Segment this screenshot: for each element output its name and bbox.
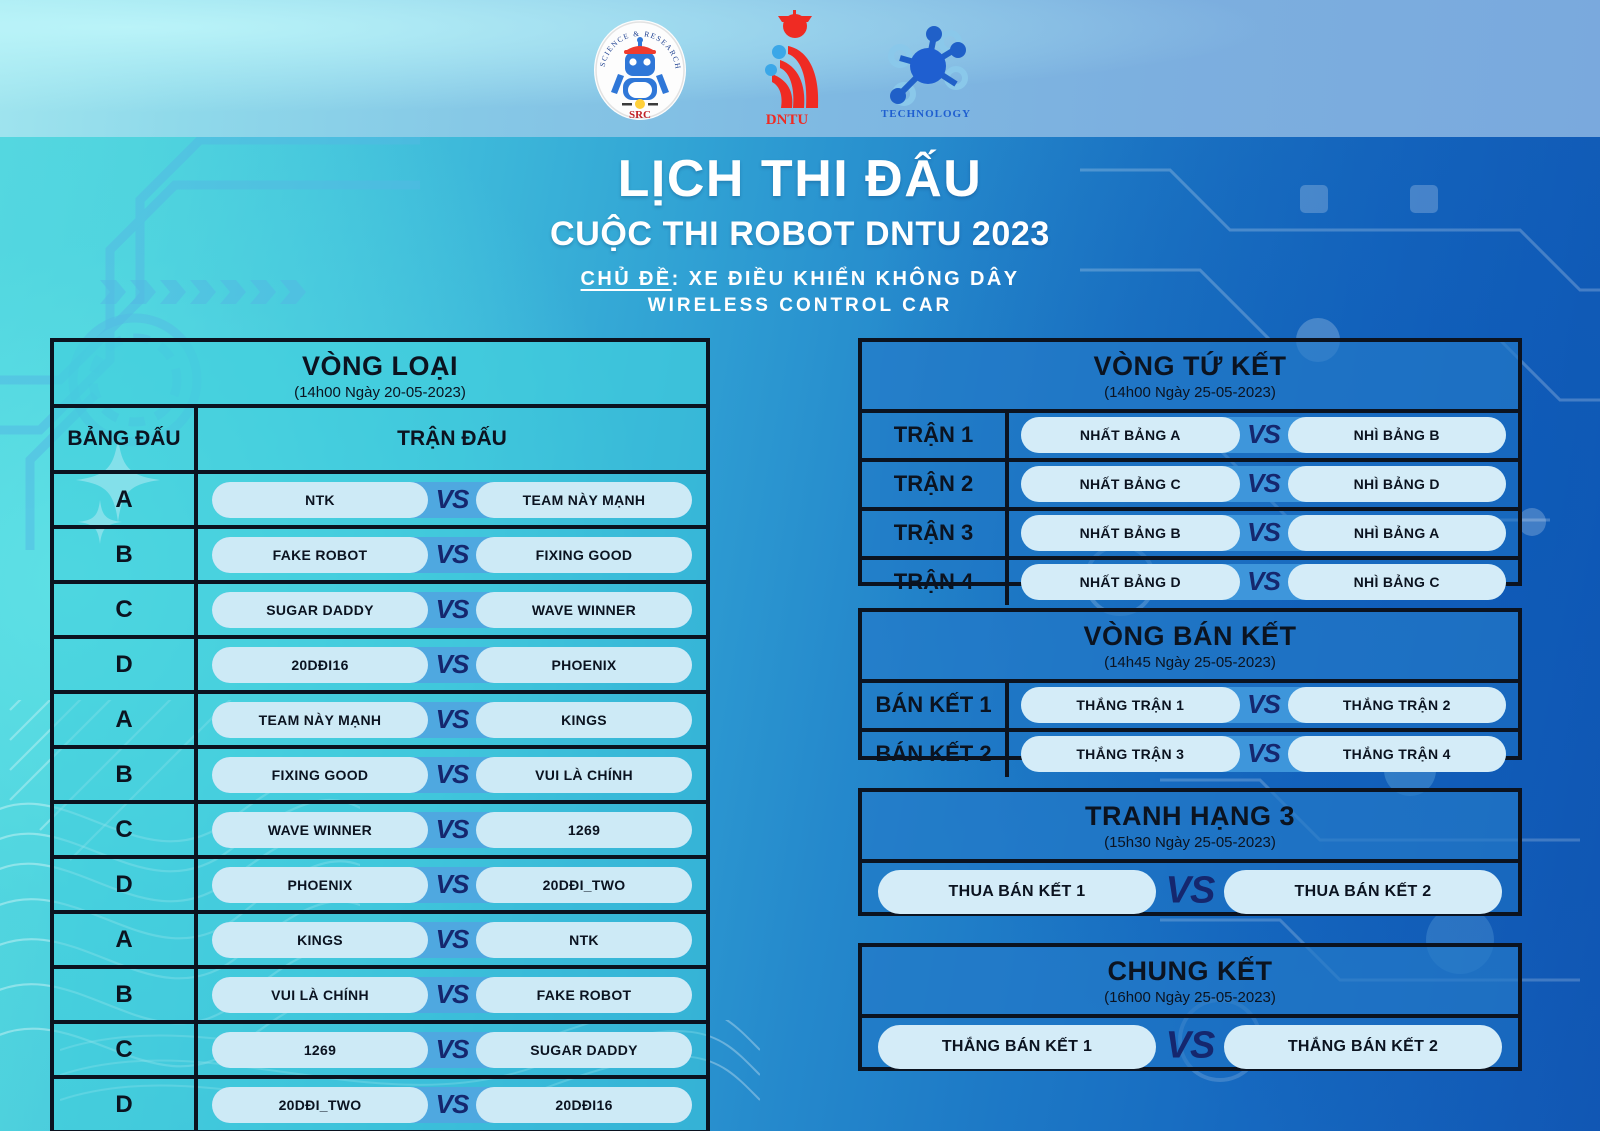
vs-label: VS <box>1247 566 1280 597</box>
row-label: TRẬN 1 <box>862 413 1009 458</box>
vs-label: VS <box>1247 738 1280 769</box>
home-team: FIXING GOOD <box>212 757 428 793</box>
match-widget: 20DĐI_TWO VS 20DĐI16 <box>212 1087 692 1123</box>
match-widget: PHOENIX VS 20DĐI_TWO <box>212 867 692 903</box>
table-row[interactable]: A KINGS VS NTK <box>54 910 706 965</box>
qualifying-column-headers: BẢNG ĐẤU TRẬN ĐẤU <box>54 404 706 470</box>
final-title-block: CHUNG KẾT (16h00 Ngày 25-05-2023) <box>862 947 1518 1014</box>
qualifying-time: (14h00 Ngày 20-05-2023) <box>54 384 706 401</box>
final-panel: CHUNG KẾT (16h00 Ngày 25-05-2023) THẮNG … <box>858 943 1522 1071</box>
theme-label: CHỦ ĐỀ <box>581 268 672 290</box>
match-widget: NHẤT BẢNG D VS NHÌ BẢNG C <box>1021 564 1506 600</box>
home-team: NHẤT BẢNG A <box>1021 417 1240 453</box>
row-match: TEAM NÀY MẠNH VS KINGS <box>198 694 706 745</box>
home-team: THẮNG BÁN KẾT 1 <box>878 1025 1156 1069</box>
home-team: TEAM NÀY MẠNH <box>212 702 428 738</box>
row-match: PHOENIX VS 20DĐI_TWO <box>198 859 706 910</box>
table-row[interactable]: TRẬN 2 NHẤT BẢNG C VS NHÌ BẢNG D <box>862 458 1518 507</box>
match-widget: FAKE ROBOT VS FIXING GOOD <box>212 537 692 573</box>
row-group: D <box>54 859 198 910</box>
match-widget: THẮNG TRẬN 3 VS THẮNG TRẬN 4 <box>1021 736 1506 772</box>
match-widget: 20DĐI16 VS PHOENIX <box>212 647 692 683</box>
match-widget: WAVE WINNER VS 1269 <box>212 812 692 848</box>
row-group: A <box>54 694 198 745</box>
away-team: VUI LÀ CHÍNH <box>476 757 692 793</box>
match-widget: THUA BÁN KẾT 1 VS THUA BÁN KẾT 2 <box>878 870 1502 914</box>
semifinal-time: (14h45 Ngày 25-05-2023) <box>862 654 1518 671</box>
row-match: NHẤT BẢNG B VS NHÌ BẢNG A <box>1009 511 1518 556</box>
row-match: VUI LÀ CHÍNH VS FAKE ROBOT <box>198 969 706 1020</box>
row-label: BÁN KẾT 2 <box>862 732 1009 777</box>
vs-label: VS <box>436 593 469 624</box>
table-row[interactable]: TRẬN 1 NHẤT BẢNG A VS NHÌ BẢNG B <box>862 409 1518 458</box>
quarterfinal-title: VÒNG TỨ KẾT <box>862 352 1518 382</box>
table-row[interactable]: B FIXING GOOD VS VUI LÀ CHÍNH <box>54 745 706 800</box>
home-team: NHẤT BẢNG B <box>1021 515 1240 551</box>
home-team: SUGAR DADDY <box>212 592 428 628</box>
away-team: THẮNG TRẬN 4 <box>1288 736 1507 772</box>
vs-label: VS <box>1166 869 1215 912</box>
vs-label: VS <box>1247 419 1280 450</box>
semifinal-panel: VÒNG BÁN KẾT (14h45 Ngày 25-05-2023) BÁN… <box>858 608 1522 760</box>
vs-label: VS <box>436 978 469 1009</box>
row-match: WAVE WINNER VS 1269 <box>198 804 706 855</box>
final-time: (16h00 Ngày 25-05-2023) <box>862 989 1518 1006</box>
header-bar-shine <box>0 0 1600 137</box>
theme-line: CHỦ ĐỀ: XE ĐIỀU KHIỂN KHÔNG DÂY <box>0 268 1600 291</box>
away-team: FAKE ROBOT <box>476 977 692 1013</box>
home-team: WAVE WINNER <box>212 812 428 848</box>
row-match: 20DĐI16 VS PHOENIX <box>198 639 706 690</box>
final-title: CHUNG KẾT <box>862 957 1518 987</box>
third-place-match-row[interactable]: THUA BÁN KẾT 1 VS THUA BÁN KẾT 2 <box>862 859 1518 921</box>
away-team: NHÌ BẢNG D <box>1288 466 1507 502</box>
home-team: PHOENIX <box>212 867 428 903</box>
qualifying-panel: VÒNG LOẠI (14h00 Ngày 20-05-2023) BẢNG Đ… <box>50 338 710 1131</box>
away-team: WAVE WINNER <box>476 592 692 628</box>
home-team: KINGS <box>212 922 428 958</box>
away-team: THẮNG TRẬN 2 <box>1288 687 1507 723</box>
vs-label: VS <box>436 813 469 844</box>
home-team: 20DĐI16 <box>212 647 428 683</box>
vs-label: VS <box>436 758 469 789</box>
row-match: 20DĐI_TWO VS 20DĐI16 <box>198 1079 706 1130</box>
page-title: LỊCH THI ĐẤU <box>0 149 1600 209</box>
match-widget: NHẤT BẢNG B VS NHÌ BẢNG A <box>1021 515 1506 551</box>
home-team: THUA BÁN KẾT 1 <box>878 870 1156 914</box>
theme-value: : XE ĐIỀU KHIỂN KHÔNG DÂY <box>672 268 1020 290</box>
vs-label: VS <box>436 868 469 899</box>
semifinal-title: VÒNG BÁN KẾT <box>862 622 1518 652</box>
row-match: KINGS VS NTK <box>198 914 706 965</box>
row-match: THẮNG TRẬN 1 VS THẮNG TRẬN 2 <box>1009 683 1518 728</box>
table-row[interactable]: C 1269 VS SUGAR DADDY <box>54 1020 706 1075</box>
vs-label: VS <box>436 648 469 679</box>
table-row[interactable]: BÁN KẾT 1 THẮNG TRẬN 1 VS THẮNG TRẬN 2 <box>862 679 1518 728</box>
row-match: FAKE ROBOT VS FIXING GOOD <box>198 529 706 580</box>
away-team: KINGS <box>476 702 692 738</box>
poster-header: LỊCH THI ĐẤU CUỘC THI ROBOT DNTU 2023 CH… <box>0 137 1600 317</box>
away-team: NHÌ BẢNG A <box>1288 515 1507 551</box>
final-match-row[interactable]: THẮNG BÁN KẾT 1 VS THẮNG BÁN KẾT 2 <box>862 1014 1518 1076</box>
home-team: NHẤT BẢNG C <box>1021 466 1240 502</box>
table-row[interactable]: D 20DĐI16 VS PHOENIX <box>54 635 706 690</box>
match-widget: NHẤT BẢNG C VS NHÌ BẢNG D <box>1021 466 1506 502</box>
away-team: THUA BÁN KẾT 2 <box>1224 870 1502 914</box>
match-widget: SUGAR DADDY VS WAVE WINNER <box>212 592 692 628</box>
match-widget: 1269 VS SUGAR DADDY <box>212 1032 692 1068</box>
home-team: NHẤT BẢNG D <box>1021 564 1240 600</box>
row-match: THẮNG TRẬN 3 VS THẮNG TRẬN 4 <box>1009 732 1518 777</box>
match-widget: THẮNG BÁN KẾT 1 VS THẮNG BÁN KẾT 2 <box>878 1025 1502 1069</box>
page-subtitle: CUỘC THI ROBOT DNTU 2023 <box>0 215 1600 254</box>
table-row[interactable]: B FAKE ROBOT VS FIXING GOOD <box>54 525 706 580</box>
table-row[interactable]: TRẬN 4 NHẤT BẢNG D VS NHÌ BẢNG C <box>862 556 1518 605</box>
qualifying-title: VÒNG LOẠI <box>54 352 706 382</box>
match-widget: THẮNG TRẬN 1 VS THẮNG TRẬN 2 <box>1021 687 1506 723</box>
quarterfinal-time: (14h00 Ngày 25-05-2023) <box>862 384 1518 401</box>
row-match: NHẤT BẢNG A VS NHÌ BẢNG B <box>1009 413 1518 458</box>
row-group: B <box>54 529 198 580</box>
away-team: SUGAR DADDY <box>476 1032 692 1068</box>
vs-label: VS <box>436 923 469 954</box>
row-label: TRẬN 2 <box>862 462 1009 507</box>
table-row[interactable]: D PHOENIX VS 20DĐI_TWO <box>54 855 706 910</box>
vs-label: VS <box>436 1033 469 1064</box>
away-team: PHOENIX <box>476 647 692 683</box>
table-row[interactable]: A NTK VS TEAM NÀY MẠNH <box>54 470 706 525</box>
away-team: THẮNG BÁN KẾT 2 <box>1224 1025 1502 1069</box>
quarterfinal-panel: VÒNG TỨ KẾT (14h00 Ngày 25-05-2023) TRẬN… <box>858 338 1522 586</box>
row-group: D <box>54 639 198 690</box>
vs-label: VS <box>436 703 469 734</box>
row-group: C <box>54 584 198 635</box>
match-widget: NTK VS TEAM NÀY MẠNH <box>212 482 692 518</box>
vs-label: VS <box>436 483 469 514</box>
semifinal-title-block: VÒNG BÁN KẾT (14h45 Ngày 25-05-2023) <box>862 612 1518 679</box>
column-header-match: TRẬN ĐẤU <box>198 408 706 470</box>
away-team: TEAM NÀY MẠNH <box>476 482 692 518</box>
third-place-title-block: TRANH HẠNG 3 (15h30 Ngày 25-05-2023) <box>862 792 1518 859</box>
away-team: NHÌ BẢNG B <box>1288 417 1507 453</box>
row-group: D <box>54 1079 198 1130</box>
vs-label: VS <box>1166 1024 1215 1067</box>
row-label: TRẬN 3 <box>862 511 1009 556</box>
vs-label: VS <box>436 538 469 569</box>
column-header-group: BẢNG ĐẤU <box>54 408 198 470</box>
table-row[interactable]: TRẬN 3 NHẤT BẢNG B VS NHÌ BẢNG A <box>862 507 1518 556</box>
row-group: A <box>54 914 198 965</box>
home-team: FAKE ROBOT <box>212 537 428 573</box>
table-row[interactable]: C WAVE WINNER VS 1269 <box>54 800 706 855</box>
away-team: 20DĐI16 <box>476 1087 692 1123</box>
row-match: SUGAR DADDY VS WAVE WINNER <box>198 584 706 635</box>
table-row[interactable]: BÁN KẾT 2 THẮNG TRẬN 3 VS THẮNG TRẬN 4 <box>862 728 1518 777</box>
away-team: FIXING GOOD <box>476 537 692 573</box>
third-place-time: (15h30 Ngày 25-05-2023) <box>862 834 1518 851</box>
away-team: 1269 <box>476 812 692 848</box>
match-widget: KINGS VS NTK <box>212 922 692 958</box>
row-match: FIXING GOOD VS VUI LÀ CHÍNH <box>198 749 706 800</box>
home-team: 20DĐI_TWO <box>212 1087 428 1123</box>
table-row[interactable]: A TEAM NÀY MẠNH VS KINGS <box>54 690 706 745</box>
third-place-panel: TRANH HẠNG 3 (15h30 Ngày 25-05-2023) THU… <box>858 788 1522 916</box>
away-team: NHÌ BẢNG C <box>1288 564 1507 600</box>
row-match: NHẤT BẢNG D VS NHÌ BẢNG C <box>1009 560 1518 605</box>
vs-label: VS <box>1247 468 1280 499</box>
vs-label: VS <box>436 1088 469 1119</box>
home-team: THẮNG TRẬN 3 <box>1021 736 1240 772</box>
theme-english: WIRELESS CONTROL CAR <box>0 295 1600 317</box>
vs-label: VS <box>1247 517 1280 548</box>
home-team: NTK <box>212 482 428 518</box>
row-group: C <box>54 804 198 855</box>
home-team: VUI LÀ CHÍNH <box>212 977 428 1013</box>
match-widget: TEAM NÀY MẠNH VS KINGS <box>212 702 692 738</box>
table-row[interactable]: B VUI LÀ CHÍNH VS FAKE ROBOT <box>54 965 706 1020</box>
qualifying-title-block: VÒNG LOẠI (14h00 Ngày 20-05-2023) <box>54 342 706 404</box>
row-label: TRẬN 4 <box>862 560 1009 605</box>
row-group: B <box>54 749 198 800</box>
row-label: BÁN KẾT 1 <box>862 683 1009 728</box>
quarterfinal-title-block: VÒNG TỨ KẾT (14h00 Ngày 25-05-2023) <box>862 342 1518 409</box>
third-place-title: TRANH HẠNG 3 <box>862 802 1518 832</box>
home-team: THẮNG TRẬN 1 <box>1021 687 1240 723</box>
match-widget: FIXING GOOD VS VUI LÀ CHÍNH <box>212 757 692 793</box>
tournament-schedule-poster: SCIENCE & RESEARCH CLUB SRC <box>0 0 1600 1131</box>
row-group: A <box>54 474 198 525</box>
row-match: 1269 VS SUGAR DADDY <box>198 1024 706 1075</box>
table-row[interactable]: C SUGAR DADDY VS WAVE WINNER <box>54 580 706 635</box>
row-match: NTK VS TEAM NÀY MẠNH <box>198 474 706 525</box>
row-match: NHẤT BẢNG C VS NHÌ BẢNG D <box>1009 462 1518 507</box>
away-team: NTK <box>476 922 692 958</box>
away-team: 20DĐI_TWO <box>476 867 692 903</box>
vs-label: VS <box>1247 689 1280 720</box>
match-widget: VUI LÀ CHÍNH VS FAKE ROBOT <box>212 977 692 1013</box>
match-widget: NHẤT BẢNG A VS NHÌ BẢNG B <box>1021 417 1506 453</box>
row-group: C <box>54 1024 198 1075</box>
home-team: 1269 <box>212 1032 428 1068</box>
table-row[interactable]: D 20DĐI_TWO VS 20DĐI16 <box>54 1075 706 1130</box>
row-group: B <box>54 969 198 1020</box>
